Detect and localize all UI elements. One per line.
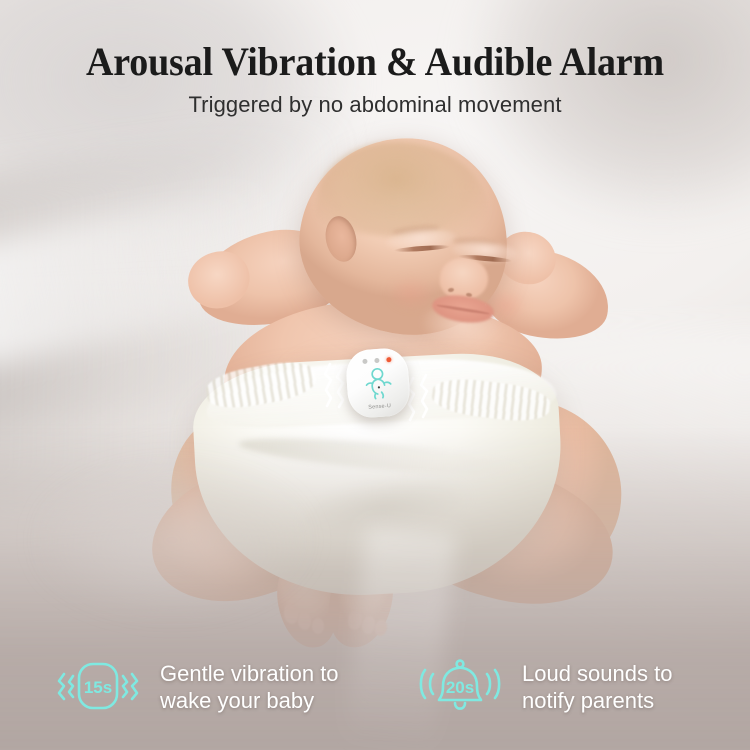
bedding-bottom-sheen bbox=[40, 450, 370, 630]
feature-line-2: wake your baby bbox=[160, 688, 339, 715]
feature-line-1: Loud sounds to bbox=[522, 661, 672, 688]
alarm-duration-badge: 20s bbox=[446, 678, 474, 697]
indicator-dot bbox=[362, 359, 367, 364]
feature-gentle-vibration: 15s Gentle vibration to wake your baby bbox=[52, 658, 382, 719]
vibration-wave-right bbox=[404, 372, 438, 424]
feature-label-sounds: Loud sounds to notify parents bbox=[522, 661, 672, 715]
vibration-duration-badge: 15s bbox=[84, 678, 112, 697]
device-indicator-lights bbox=[345, 356, 407, 365]
page-title: Arousal Vibration & Audible Alarm bbox=[19, 0, 732, 83]
page-subtitle: Triggered by no abdominal movement bbox=[0, 83, 750, 118]
vibration-timer-icon: 15s bbox=[52, 658, 144, 719]
header-block: Arousal Vibration & Audible Alarm Trigge… bbox=[0, 0, 750, 118]
baby-figure-logo-icon bbox=[360, 366, 397, 407]
sense-u-baby-monitor-device[interactable]: Sense-U bbox=[345, 347, 412, 419]
feature-label-vibration: Gentle vibration to wake your baby bbox=[160, 661, 339, 715]
feature-bar: 15s Gentle vibration to wake your baby bbox=[0, 644, 750, 732]
feature-line-1: Gentle vibration to bbox=[160, 661, 339, 688]
alarm-bell-icon: 20s bbox=[414, 656, 506, 721]
indicator-dot-alert bbox=[386, 357, 391, 362]
indicator-dot bbox=[374, 358, 379, 363]
product-feature-image: Sense-U Arousal Vibration & Audible Alar… bbox=[0, 0, 750, 750]
feature-loud-sounds: 20s Loud sounds to notify parents bbox=[414, 656, 672, 721]
feature-line-2: notify parents bbox=[522, 688, 672, 715]
